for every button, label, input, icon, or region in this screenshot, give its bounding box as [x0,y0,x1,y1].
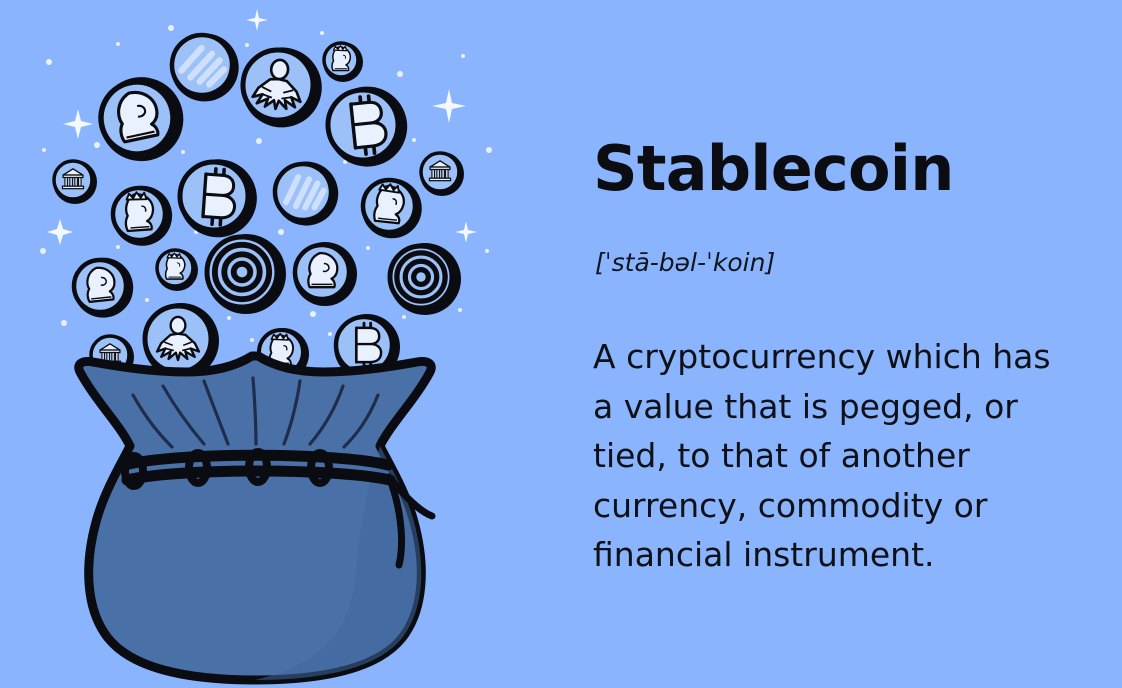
coin-portrait-bust-2 [293,242,357,306]
money-bag [79,356,432,680]
page-title: Stablecoin [593,138,954,200]
definition-card: Stablecoin [ˈstā-bəl-ˈkoin] A cryptocurr… [0,0,1122,688]
coin-portrait-bust-3 [70,255,136,321]
coin-queen-1 [359,175,425,241]
coin-bitcoin-1 [323,83,411,171]
definition-text: A cryptocurrency which has a value that … [593,332,1063,580]
pronunciation: [ˈstā-bəl-ˈkoin] [595,250,775,275]
coin-bank-small-1 [420,152,464,196]
coin-queen-small-1 [323,42,363,82]
coin-blank-shine-1 [166,29,243,106]
coin-queen-2 [110,184,174,248]
coin-eagle-1 [238,43,326,131]
coin-queen-small-2 [156,249,198,291]
coin-target-2 [389,243,461,315]
money-bag-illustration [0,0,520,688]
coin-cluster [53,29,464,380]
coin-target-1 [206,234,286,314]
text-column: Stablecoin [ˈstā-bəl-ˈkoin] A cryptocurr… [593,0,1093,688]
coin-blank-shine-2 [270,157,342,229]
coin-bitcoin-2 [176,157,259,240]
coin-bank-small-2 [53,160,97,204]
